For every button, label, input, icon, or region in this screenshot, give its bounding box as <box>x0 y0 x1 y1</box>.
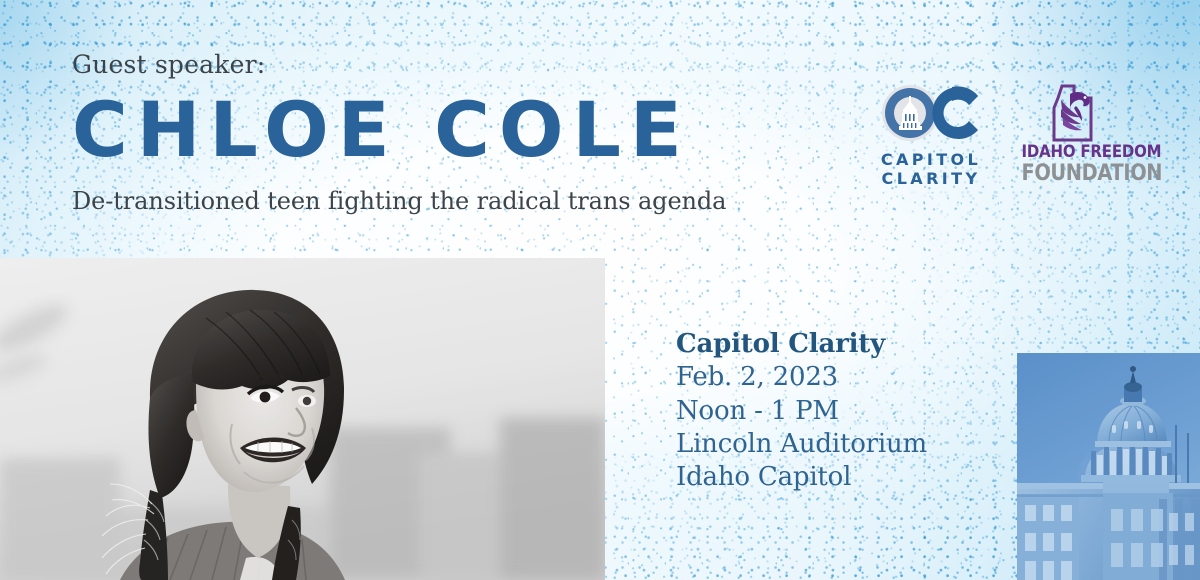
iff-word-line-1: IDAHO FREEDOM <box>1021 144 1130 162</box>
cc-monogram-icon <box>870 82 992 144</box>
event-details-block: Capitol Clarity Feb. 2, 2023 Noon - 1 PM… <box>676 328 927 494</box>
cc-word-line-1: CAPITOL <box>870 151 992 170</box>
capitol-illustration <box>1017 353 1200 580</box>
speaker-portrait-photo <box>0 258 605 580</box>
cc-word-line-2: CLARITY <box>870 170 992 189</box>
idaho-eagle-icon <box>1014 82 1138 144</box>
event-date: Feb. 2, 2023 <box>676 361 927 394</box>
capitol-clarity-wordmark: CAPITOL CLARITY <box>870 151 992 189</box>
guest-speaker-label: Guest speaker: <box>72 52 872 77</box>
event-time: Noon - 1 PM <box>676 395 927 428</box>
capitol-clarity-logo: CAPITOL CLARITY <box>870 82 992 189</box>
idaho-capitol-building-photo <box>1017 353 1200 580</box>
iff-word-line-2: FOUNDATION <box>1021 162 1130 185</box>
event-title: Capitol Clarity <box>676 328 927 361</box>
event-banner: Guest speaker: CHLOE COLE De-transitione… <box>0 0 1200 580</box>
speaker-name-heading: CHLOE COLE <box>72 91 872 169</box>
event-venue: Lincoln Auditorium <box>676 428 927 461</box>
logo-row: CAPITOL CLARITY IDAHO FREEDOM FOUNDATION <box>870 82 1138 189</box>
event-location: Idaho Capitol <box>676 461 927 494</box>
idaho-freedom-foundation-logo: IDAHO FREEDOM FOUNDATION <box>1014 82 1138 185</box>
portrait-illustration <box>0 258 605 580</box>
headline-block: Guest speaker: CHLOE COLE De-transitione… <box>72 52 872 213</box>
iff-wordmark: IDAHO FREEDOM FOUNDATION <box>1014 144 1138 185</box>
speaker-tagline: De-transitioned teen fighting the radica… <box>72 189 872 213</box>
